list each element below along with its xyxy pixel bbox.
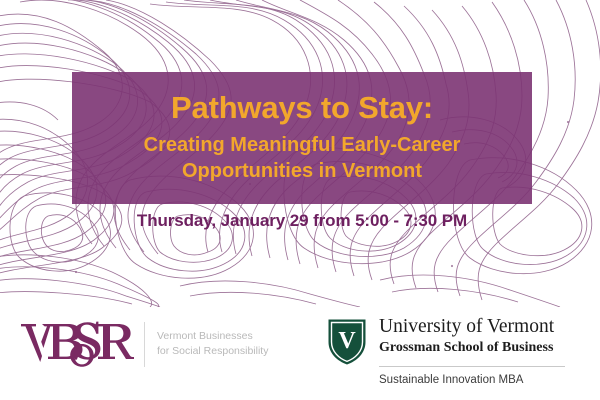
event-datetime: Thursday, January 29 from 5:00 - 7:30 PM bbox=[72, 211, 532, 231]
subtitle-line-1: Creating Meaningful Early-Career bbox=[144, 132, 461, 158]
vbsr-tagline-line-1: Vermont Businesses bbox=[157, 329, 268, 344]
uvm-logo: V University of Vermont Grossman School … bbox=[327, 316, 565, 386]
svg-text:V: V bbox=[338, 328, 356, 354]
headline-text-group: Pathways to Stay: Creating Meaningful Ea… bbox=[72, 72, 532, 204]
uvm-school-name: Grossman School of Business bbox=[379, 339, 565, 357]
subtitle-line-2: Opportunities in Vermont bbox=[144, 158, 461, 184]
uvm-university-name: University of Vermont bbox=[379, 316, 565, 337]
uvm-program-name: Sustainable Innovation MBA bbox=[379, 374, 565, 386]
vbsr-monogram-icon bbox=[16, 318, 136, 370]
vbsr-tagline-line-2: for Social Responsibility bbox=[157, 344, 268, 359]
event-poster: Pathways to Stay: Creating Meaningful Ea… bbox=[0, 0, 600, 400]
uvm-text-block: University of Vermont Grossman School of… bbox=[379, 316, 565, 386]
uvm-shield-v-icon: V bbox=[327, 318, 367, 366]
vbsr-tagline: Vermont Businesses for Social Responsibi… bbox=[157, 329, 268, 359]
uvm-divider-rule bbox=[379, 366, 565, 367]
vbsr-logo: Vermont Businesses for Social Responsibi… bbox=[16, 318, 268, 370]
vbsr-divider bbox=[144, 322, 145, 367]
page-subtitle: Creating Meaningful Early-Career Opportu… bbox=[144, 132, 461, 185]
sponsor-logo-row: Vermont Businesses for Social Responsibi… bbox=[0, 307, 600, 400]
page-title: Pathways to Stay: bbox=[171, 92, 433, 125]
